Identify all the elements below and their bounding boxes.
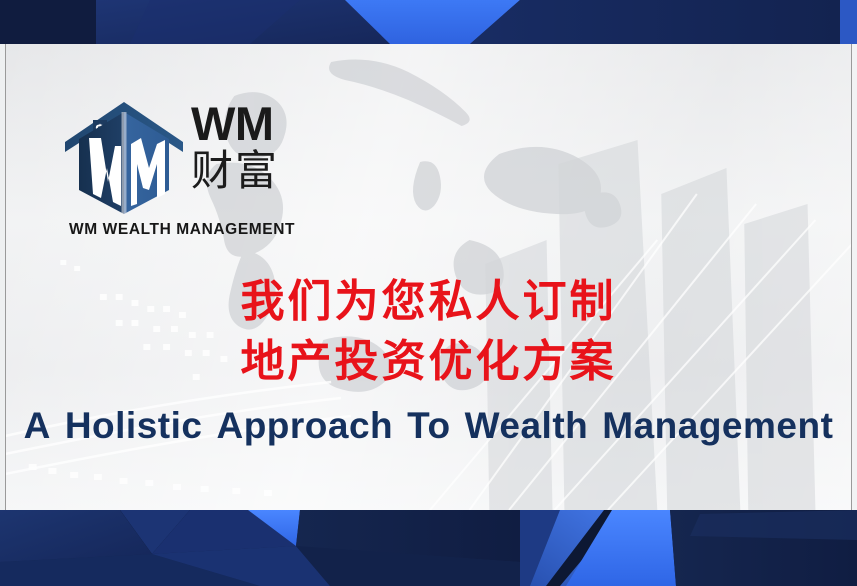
headline-word: To (407, 405, 450, 447)
bottom-decorative-band (0, 510, 857, 586)
headline-word: Wealth (465, 405, 589, 447)
logo-tagline: WM WEALTH MANAGEMENT (69, 221, 313, 239)
headline-english: AHolisticApproachToWealthManagement (5, 405, 852, 447)
headline-chinese-line-1: 我们为您私人订制 (5, 272, 852, 332)
wealth-management-slide: $ WM 财富 W (0, 0, 857, 586)
logo-wordmark-chinese: 财富 (191, 149, 279, 193)
bottom-band-polygons (0, 510, 857, 586)
headline-chinese-line-2: 地产投资优化方案 (5, 332, 852, 392)
logo-wordmark: WM (191, 102, 279, 147)
headline-word: Holistic (65, 405, 203, 447)
top-band-polygons (0, 0, 857, 44)
slide-content-plate: $ WM 财富 W (0, 44, 857, 510)
headline-block: 我们为您私人订制 地产投资优化方案 AHolisticApproachToWea… (5, 272, 852, 447)
headline-word: Management (602, 405, 833, 447)
wm-house-cube-icon: $ (63, 94, 185, 216)
top-decorative-band (0, 0, 857, 44)
brand-logo[interactable]: $ WM 财富 W (63, 94, 313, 244)
headline-word: A (24, 405, 51, 447)
headline-word: Approach (216, 405, 393, 447)
